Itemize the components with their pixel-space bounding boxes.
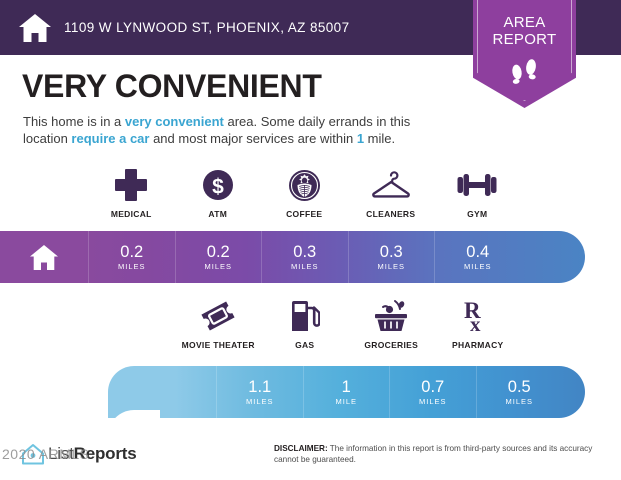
mls-watermark: 2020 ARMLS — [2, 446, 90, 462]
atm-dollar-icon: $ — [202, 165, 234, 205]
bar-leading-spacer — [108, 366, 216, 418]
page-subtitle: This home is in a very convenient area. … — [23, 113, 443, 147]
distance-value: 0.4 — [466, 243, 489, 261]
category-atm: $ ATM — [175, 165, 262, 219]
category-cleaners: CLEANERS — [348, 165, 435, 219]
category-label: COFFEE — [286, 209, 322, 219]
distance-value: 0.7 — [421, 378, 444, 396]
category-gym: GYM — [434, 165, 521, 219]
coffee-siren-icon — [288, 165, 321, 205]
home-marker — [0, 231, 88, 283]
distance-unit: MILES — [377, 262, 405, 271]
distance-value: 0.5 — [508, 378, 531, 396]
rx-pharmacy-icon: R x — [461, 296, 495, 336]
category-medical: MEDICAL — [88, 165, 175, 219]
category-pharmacy: R x PHARMACY — [435, 296, 522, 350]
page-title: VERY CONVENIENT — [22, 68, 322, 105]
distance-unit: MILES — [464, 262, 492, 271]
distance-unit: MILES — [291, 262, 319, 271]
category-label: GROCERIES — [364, 340, 418, 350]
category-label: CLEANERS — [366, 209, 415, 219]
area-report-badge: AREA REPORT — [473, 0, 576, 108]
category-label: MOVIE THEATER — [182, 340, 255, 350]
distance-unit: MILES — [419, 397, 447, 406]
category-label: GAS — [295, 340, 314, 350]
property-address: 1109 W LYNWOOD ST, PHOENIX, AZ 85007 — [64, 20, 350, 35]
home-icon — [18, 13, 52, 43]
bar-tail — [521, 231, 586, 283]
footprints-icon — [473, 56, 576, 91]
distance-bar-row-1: 0.2 MILES 0.2 MILES 0.3 MILES 0.3 MILES … — [0, 231, 585, 283]
distance-cell-coffee: 0.3 MILES — [261, 231, 348, 283]
distance-cell-gas: 1 MILE — [303, 366, 390, 418]
category-groceries: GROCERIES — [348, 296, 435, 350]
category-icon-row-1: MEDICAL $ ATM — [88, 165, 521, 219]
distance-cell-pharmacy: 0.5 MILES — [476, 366, 563, 418]
category-label: GYM — [467, 209, 487, 219]
distance-unit: MILES — [204, 262, 232, 271]
hanger-icon — [371, 165, 411, 205]
disclaimer: DISCLAIMER: The information in this repo… — [274, 443, 594, 465]
badge-title: AREA REPORT — [473, 14, 576, 48]
category-gas: GAS — [262, 296, 349, 350]
grocery-basket-icon — [373, 296, 409, 336]
distance-unit: MILE — [335, 397, 357, 406]
category-coffee: COFFEE — [261, 165, 348, 219]
disclaimer-label: DISCLAIMER: — [274, 444, 328, 453]
category-label: MEDICAL — [111, 209, 152, 219]
distance-cell-atm: 0.2 MILES — [175, 231, 262, 283]
distance-bar-row-2: 1.1 MILES 1 MILE 0.7 MILES 0.5 MILES — [108, 366, 585, 418]
home-icon — [29, 244, 59, 271]
bar-tail — [562, 366, 585, 418]
distance-unit: MILES — [118, 262, 146, 271]
gas-pump-icon — [290, 296, 320, 336]
distance-value: 0.2 — [207, 243, 230, 261]
category-label: ATM — [208, 209, 227, 219]
category-icon-row-2: MOVIE THEATER GAS — [175, 296, 608, 350]
movie-ticket-icon — [200, 296, 236, 336]
distance-unit: MILES — [505, 397, 533, 406]
distance-value: 1 — [342, 378, 351, 396]
subtitle-highlight-2: require a car — [71, 131, 149, 146]
distance-value: 1.1 — [248, 378, 271, 396]
distance-value: 0.3 — [293, 243, 316, 261]
distance-value: 0.2 — [120, 243, 143, 261]
category-label: PHARMACY — [452, 340, 504, 350]
medical-cross-icon — [115, 165, 147, 205]
subtitle-part-1: This home is in a — [23, 114, 125, 129]
badge-line-1: AREA — [473, 14, 576, 31]
badge-line-2: REPORT — [473, 31, 576, 48]
distance-unit: MILES — [246, 397, 274, 406]
subtitle-part-4: mile. — [364, 131, 395, 146]
distance-cell-groceries: 0.7 MILES — [389, 366, 476, 418]
distance-cell-medical: 0.2 MILES — [88, 231, 175, 283]
distance-cell-movie-theater: 1.1 MILES — [216, 366, 303, 418]
category-movie-theater: MOVIE THEATER — [175, 296, 262, 350]
svg-text:$: $ — [212, 176, 224, 199]
subtitle-highlight-3: 1 — [357, 131, 364, 146]
distance-cell-cleaners: 0.3 MILES — [348, 231, 435, 283]
distance-cell-gym: 0.4 MILES — [434, 231, 521, 283]
subtitle-part-3: and most major services are within — [149, 131, 356, 146]
distance-value: 0.3 — [380, 243, 403, 261]
dumbbell-icon — [457, 165, 497, 205]
svg-text:x: x — [470, 312, 481, 333]
subtitle-highlight-1: very convenient — [125, 114, 224, 129]
